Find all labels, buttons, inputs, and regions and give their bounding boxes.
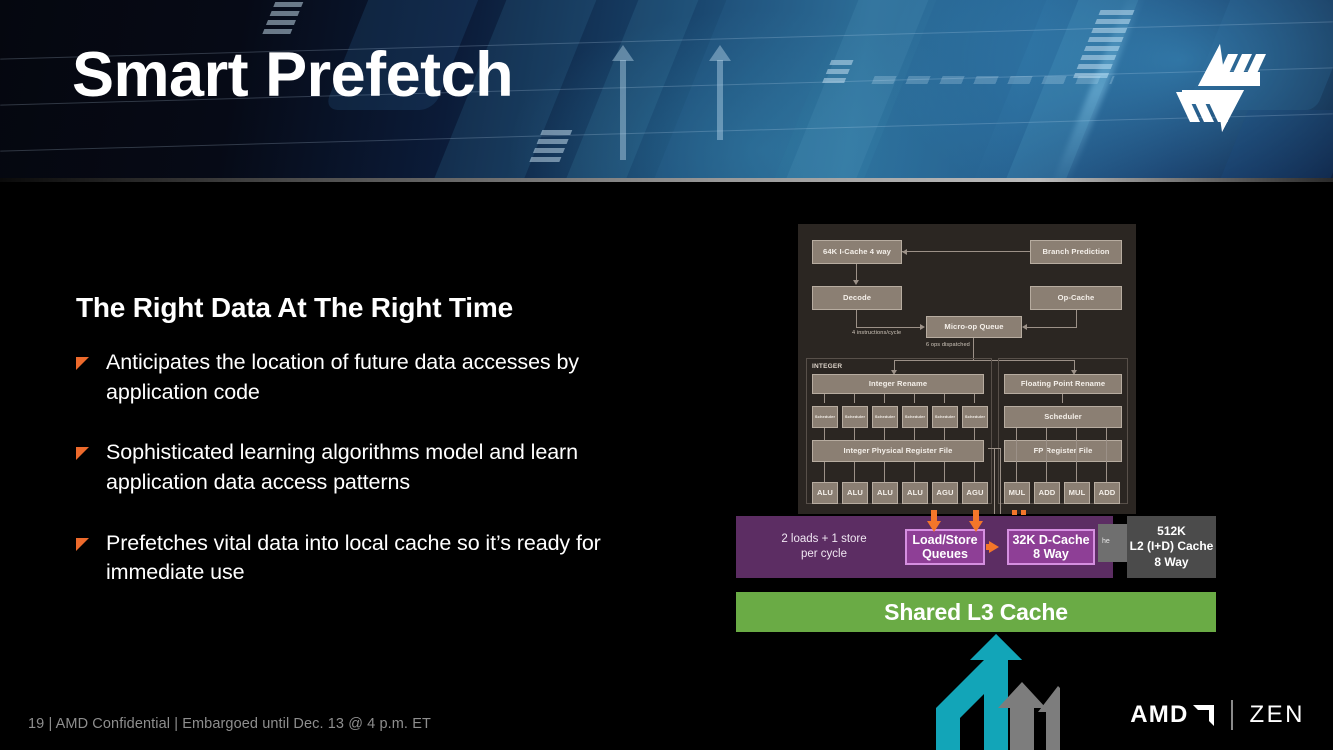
connector xyxy=(824,428,825,440)
connector xyxy=(944,394,945,403)
lsq-line2: Queues xyxy=(912,547,977,561)
block-icache: 64K I-Cache 4 way xyxy=(812,240,902,264)
connector xyxy=(1046,428,1047,482)
arrow-right-icon xyxy=(920,324,925,330)
triangle-bullet-icon xyxy=(76,538,90,552)
connector xyxy=(884,462,885,482)
connector xyxy=(944,462,945,482)
block-integer-scheduler: Scheduler xyxy=(962,406,988,428)
block-alu-1: ALU xyxy=(842,482,868,504)
arrow-stem xyxy=(986,544,994,550)
dcache-line2: 8 Way xyxy=(1012,547,1089,561)
brand-logos: AMD ZEN xyxy=(1130,698,1305,732)
block-fp-add-0: ADD xyxy=(1034,482,1060,504)
bullet-text: Prefetches vital data into local cache s… xyxy=(106,529,606,588)
connector xyxy=(902,251,1030,252)
lsu-throughput-note: 2 loads + 1 store per cycle xyxy=(754,532,894,561)
page-title: Smart Prefetch xyxy=(72,44,513,107)
arrow-left-icon xyxy=(902,249,907,255)
block-integer-scheduler: Scheduler xyxy=(842,406,868,428)
block-micro-op-queue: Micro-op Queue xyxy=(926,316,1022,338)
header-up-arrow-stem xyxy=(620,60,626,160)
bullet-text: Sophisticated learning algorithms model … xyxy=(106,438,606,497)
list-item: Sophisticated learning algorithms model … xyxy=(76,438,676,497)
note-dispatch-rate: 6 ops dispatched xyxy=(926,342,970,348)
block-integer-scheduler: Scheduler xyxy=(812,406,838,428)
connector xyxy=(856,327,922,328)
connector xyxy=(884,428,885,440)
block-fp-scheduler: Scheduler xyxy=(1004,406,1122,428)
connector xyxy=(854,428,855,440)
block-agu-1: AGU xyxy=(962,482,988,504)
header-divider xyxy=(0,178,1333,182)
amd-arrow-icon xyxy=(1193,705,1214,726)
connector xyxy=(974,462,975,482)
integer-section-label: INTEGER xyxy=(812,363,842,370)
zen-logo-icon xyxy=(1168,42,1274,134)
connector xyxy=(914,394,915,403)
connector xyxy=(884,394,885,403)
triangle-bullet-icon xyxy=(76,447,90,461)
connector xyxy=(856,264,857,280)
connector xyxy=(1106,428,1107,482)
lsq-line1: Load/Store xyxy=(912,533,977,547)
block-alu-0: ALU xyxy=(812,482,838,504)
list-item: Anticipates the location of future data … xyxy=(76,348,676,407)
block-fp-add-1: ADD xyxy=(1094,482,1120,504)
slide-root: Smart Prefetch xyxy=(0,0,1333,750)
growth-arrows-graphic xyxy=(930,634,1060,750)
l2-line2: L2 (I+D) Cache xyxy=(1130,539,1214,555)
block-op-cache: Op-Cache xyxy=(1030,286,1122,310)
lsu-note-line2: per cycle xyxy=(754,547,894,562)
note-decode-rate: 4 instructions/cycle xyxy=(852,330,901,336)
connector xyxy=(1062,394,1063,403)
block-fp-mul-0: MUL xyxy=(1004,482,1030,504)
connector xyxy=(824,462,825,482)
header-dashes xyxy=(871,76,1114,84)
header-up-arrow-stem xyxy=(717,60,723,140)
header-up-arrow-icon xyxy=(612,45,634,61)
gray-arrow-icon xyxy=(1038,686,1060,750)
block-d-cache: 32K D-Cache 8 Way xyxy=(1007,529,1095,565)
block-l3-cache: Shared L3 Cache xyxy=(736,592,1216,632)
header-banner: Smart Prefetch xyxy=(0,0,1333,182)
connector xyxy=(854,462,855,482)
block-alu-3: ALU xyxy=(902,482,928,504)
block-fp-mul-1: MUL xyxy=(1064,482,1090,504)
block-branch-prediction: Branch Prediction xyxy=(1030,240,1122,264)
arrow-left-icon xyxy=(1022,324,1027,330)
connector xyxy=(824,394,825,403)
header-ladder xyxy=(261,2,304,38)
block-load-store-queues: Load/Store Queues xyxy=(905,529,985,565)
zen-wordmark: ZEN xyxy=(1250,701,1306,729)
block-agu-0: AGU xyxy=(932,482,958,504)
connector xyxy=(914,428,915,440)
bullet-list: Anticipates the location of future data … xyxy=(76,348,676,619)
block-decode: Decode xyxy=(812,286,902,310)
block-integer-scheduler: Scheduler xyxy=(902,406,928,428)
arrow-down-icon xyxy=(853,280,859,285)
block-fp-rename: Floating Point Rename xyxy=(1004,374,1122,394)
l2-line3: 8 Way xyxy=(1130,555,1214,571)
connector xyxy=(1076,310,1077,327)
connector xyxy=(854,394,855,403)
block-integer-scheduler: Scheduler xyxy=(872,406,898,428)
connector xyxy=(1000,448,1001,514)
zen-core-block-diagram: 64K I-Cache 4 way Branch Prediction Deco… xyxy=(736,224,1216,634)
connector xyxy=(914,462,915,482)
connector xyxy=(856,310,857,327)
block-alu-2: ALU xyxy=(872,482,898,504)
connector xyxy=(974,428,975,440)
connector xyxy=(974,394,975,403)
brand-divider xyxy=(1231,700,1233,730)
connector xyxy=(1026,327,1077,328)
block-fp-register-file: FP Register File xyxy=(1004,440,1122,462)
connector xyxy=(973,338,974,360)
lsu-note-line1: 2 loads + 1 store xyxy=(754,532,894,547)
arrow-down-icon xyxy=(969,521,983,532)
dcache-line1: 32K D-Cache xyxy=(1012,533,1089,547)
list-item: Prefetches vital data into local cache s… xyxy=(76,529,676,588)
core-diagram-panel: 64K I-Cache 4 way Branch Prediction Deco… xyxy=(798,224,1136,514)
connector xyxy=(944,428,945,440)
arrow-down-icon xyxy=(927,521,941,532)
footer-confidential-notice: 19 | AMD Confidential | Embargoed until … xyxy=(28,716,431,732)
arrow-dots-icon xyxy=(1012,510,1026,515)
l2-stub-label: he xyxy=(1102,538,1110,545)
connector xyxy=(1076,428,1077,482)
connector xyxy=(1016,428,1017,482)
amd-wordmark: AMD xyxy=(1130,701,1188,729)
triangle-bullet-icon xyxy=(76,357,90,371)
load-store-unit-band: 2 loads + 1 store per cycle Load/Store Q… xyxy=(736,516,1113,578)
block-integer-rename: Integer Rename xyxy=(812,374,984,394)
l2-line1: 512K xyxy=(1130,524,1214,540)
bullet-text: Anticipates the location of future data … xyxy=(106,348,606,407)
block-integer-scheduler: Scheduler xyxy=(932,406,958,428)
block-l2-cache: 512K L2 (I+D) Cache 8 Way xyxy=(1127,516,1216,578)
teal-arrow-icon xyxy=(936,634,1022,750)
block-integer-register-file: Integer Physical Register File xyxy=(812,440,984,462)
connector xyxy=(994,448,995,514)
header-up-arrow-icon xyxy=(709,45,731,61)
section-subheading: The Right Data At The Right Time xyxy=(76,292,513,324)
amd-logo: AMD xyxy=(1130,701,1213,729)
